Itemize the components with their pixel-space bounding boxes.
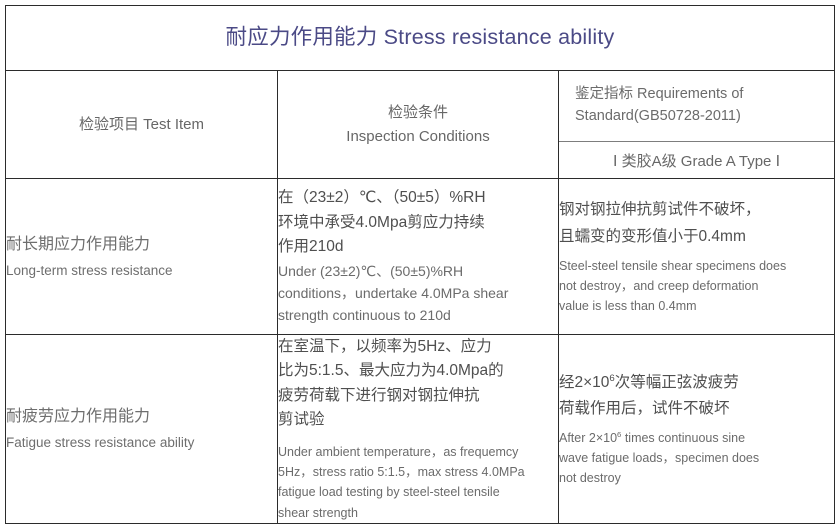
header-requirements-standard: 鉴定指标 Requirements of Standard(GB50728-20… xyxy=(559,71,834,142)
header-test-item-cell: 检验项目 Test Item xyxy=(6,71,278,179)
title-row: 耐应力作用能力 Stress resistance ability xyxy=(6,6,835,71)
row1-test-item-cn: 耐长期应力作用能力 xyxy=(6,232,277,258)
row1-condition-en-line1: Under (23±2)℃、(50±5)%RH xyxy=(278,260,558,282)
table-title-cell: 耐应力作用能力 Stress resistance ability xyxy=(6,6,835,71)
row1-requirement-cell: 钢对钢拉伸抗剪试件不破坏， 且蠕变的变形值小于0.4mm Steel-steel… xyxy=(559,179,835,335)
header-row: 检验项目 Test Item 检验条件 Inspection Condition… xyxy=(6,71,835,179)
row2-condition-cn-line3: 疲劳荷载下进行钢对钢拉伸抗 xyxy=(278,384,558,408)
header-requirements-standard-label: 鉴定指标 Requirements of Standard(GB50728-20… xyxy=(575,84,820,128)
row1-test-item-en: Long-term stress resistance xyxy=(6,260,277,282)
spec-table-sheet: 耐应力作用能力 Stress resistance ability 检验项目 T… xyxy=(5,5,834,514)
row2-condition-cn-line4: 剪试验 xyxy=(278,408,558,432)
row2-requirement-cn-part2: 次等幅正弦波疲劳 xyxy=(615,374,739,391)
header-grade-type: Ⅰ 类胶A级 Grade A Type Ⅰ xyxy=(559,142,834,178)
row2-requirement-en-part1: After 2×10 xyxy=(559,431,617,445)
row1-condition-en-line3: strength continuous to 210d xyxy=(278,304,558,326)
row2-condition-cn-line1: 在室温下，以频率为5Hz、应力 xyxy=(278,335,558,359)
row2-requirement-en-line1: After 2×106 times continuous sine xyxy=(559,428,834,448)
stress-resistance-table: 耐应力作用能力 Stress resistance ability 检验项目 T… xyxy=(5,5,835,524)
row2-requirement-cn-line2: 荷载作用后，试件不破坏 xyxy=(559,396,834,423)
row1-condition-en-line2: conditions，undertake 4.0MPa shear xyxy=(278,282,558,304)
row2-requirement-cell: 经2×106次等幅正弦波疲劳 荷载作用后，试件不破坏 After 2×106 t… xyxy=(559,335,835,524)
row2-requirement-en-line2: wave fatigue loads，specimen does xyxy=(559,448,834,468)
row1-requirement-cn-line2: 且蠕变的变形值小于0.4mm xyxy=(559,224,834,251)
header-requirements-cell: 鉴定指标 Requirements of Standard(GB50728-20… xyxy=(559,71,835,179)
page-title: 耐应力作用能力 Stress resistance ability xyxy=(226,25,615,49)
row2-condition-en-line4: shear strength xyxy=(278,503,558,523)
header-inspection-conditions-cn: 检验条件 xyxy=(278,101,558,124)
row2-requirement-cn-part1: 经2×10 xyxy=(559,374,609,391)
row1-condition-cn-line3: 作用210d xyxy=(278,235,558,259)
row1-test-item-cell: 耐长期应力作用能力 Long-term stress resistance xyxy=(6,179,278,335)
header-test-item-label: 检验项目 Test Item xyxy=(79,116,204,133)
row2-condition-en-line3: fatigue load testing by steel-steel tens… xyxy=(278,482,558,502)
row1-requirement-en-line2: not destroy，and creep deformation xyxy=(559,276,834,296)
header-inspection-conditions-en: Inspection Conditions xyxy=(278,125,558,148)
row2-condition-en-line1: Under ambient temperature，as frequemcy xyxy=(278,442,558,462)
row2-condition-cn-line2: 比为5:1.5、最大应力为4.0Mpa的 xyxy=(278,359,558,383)
row1-requirement-cn-line1: 钢对钢拉伸抗剪试件不破坏， xyxy=(559,197,834,224)
table-row: 耐长期应力作用能力 Long-term stress resistance 在（… xyxy=(6,179,835,335)
header-inspection-conditions-cell: 检验条件 Inspection Conditions xyxy=(278,71,559,179)
row2-condition-en-line2: 5Hz，stress ratio 5:1.5，max stress 4.0MPa xyxy=(278,462,558,482)
row2-test-item-cell: 耐疲劳应力作用能力 Fatigue stress resistance abil… xyxy=(6,335,278,524)
header-grade-type-label: Ⅰ 类胶A级 Grade A Type Ⅰ xyxy=(613,150,780,171)
row1-requirement-en-line3: value is less than 0.4mm xyxy=(559,296,834,316)
row2-test-item-en: Fatigue stress resistance ability xyxy=(6,432,277,454)
row1-condition-cell: 在（23±2）℃、（50±5）%RH 环境中承受4.0Mpa剪应力持续 作用21… xyxy=(278,179,559,335)
row1-requirement-en-line1: Steel-steel tensile shear specimens does xyxy=(559,256,834,276)
row2-condition-cell: 在室温下，以频率为5Hz、应力 比为5:1.5、最大应力为4.0Mpa的 疲劳荷… xyxy=(278,335,559,524)
row1-condition-cn-line1: 在（23±2）℃、（50±5）%RH xyxy=(278,186,558,210)
row2-requirement-cn-line1: 经2×106次等幅正弦波疲劳 xyxy=(559,370,834,397)
row2-requirement-en-part2: times continuous sine xyxy=(621,431,745,445)
row1-condition-cn-line2: 环境中承受4.0Mpa剪应力持续 xyxy=(278,211,558,235)
row2-requirement-en-line3: not destroy xyxy=(559,468,834,488)
header-requirements-wrap: 鉴定指标 Requirements of Standard(GB50728-20… xyxy=(559,71,834,178)
table-row: 耐疲劳应力作用能力 Fatigue stress resistance abil… xyxy=(6,335,835,524)
row2-test-item-cn: 耐疲劳应力作用能力 xyxy=(6,404,277,430)
